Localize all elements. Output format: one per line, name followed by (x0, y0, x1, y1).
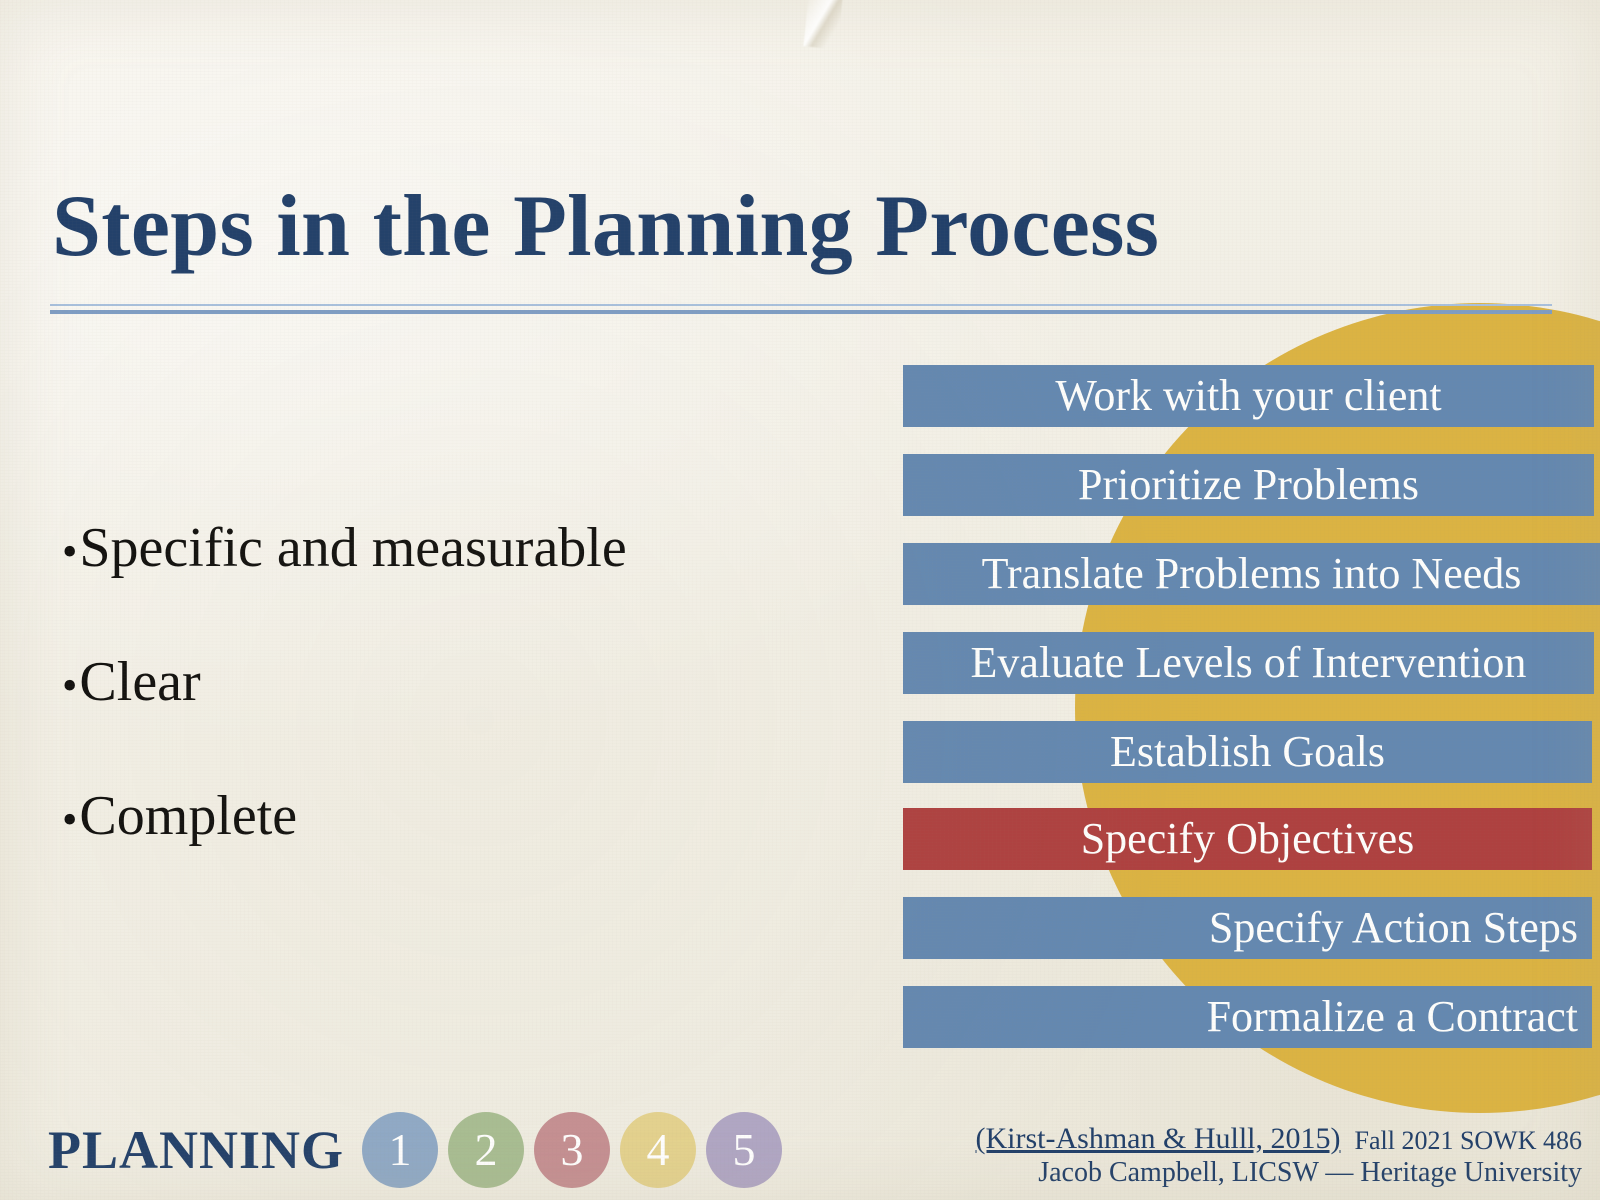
step-bar-label: Work with your client (1055, 374, 1441, 418)
step-bar-translate-problems-into-needs: Translate Problems into Needs (903, 543, 1600, 605)
course-label: Fall 2021 SOWK 486 (1355, 1125, 1583, 1156)
step-number-circles: 1 2 3 4 5 (362, 1112, 792, 1188)
step-bar-label: Establish Goals (1110, 730, 1385, 774)
planning-label: PLANNING (48, 1123, 344, 1177)
footer-citation-row: (Kirst-Ashman & Hulll, 2015) Fall 2021 S… (976, 1122, 1582, 1157)
step-circle-number: 5 (733, 1127, 756, 1173)
step-bar-label: Evaluate Levels of Intervention (971, 641, 1527, 685)
step-bar-specify-action-steps: Specify Action Steps (903, 897, 1592, 959)
step-circle-2[interactable]: 2 (448, 1112, 524, 1188)
step-circle-1[interactable]: 1 (362, 1112, 438, 1188)
step-bar-evaluate-levels-of-intervention: Evaluate Levels of Intervention (903, 632, 1594, 694)
step-circle-5[interactable]: 5 (706, 1112, 782, 1188)
step-bar-formalize-a-contract: Formalize a Contract (903, 986, 1592, 1048)
planning-steps-chart: Work with your client Prioritize Problem… (0, 0, 1600, 1200)
step-bar-prioritize-problems: Prioritize Problems (903, 454, 1594, 516)
citation-link[interactable]: (Kirst-Ashman & Hulll, 2015) (976, 1122, 1341, 1157)
author-label: Jacob Campbell, LICSW — Heritage Univers… (976, 1156, 1582, 1190)
step-bar-work-with-your-client: Work with your client (903, 365, 1594, 427)
step-bar-label: Prioritize Problems (1078, 463, 1419, 507)
step-bar-label: Formalize a Contract (1207, 995, 1578, 1039)
step-bar-label: Specify Objectives (1081, 817, 1415, 861)
footer-attribution: (Kirst-Ashman & Hulll, 2015) Fall 2021 S… (976, 1122, 1582, 1190)
step-bar-establish-goals: Establish Goals (903, 721, 1592, 783)
step-circle-number: 2 (475, 1127, 498, 1173)
step-circle-4[interactable]: 4 (620, 1112, 696, 1188)
step-circle-3[interactable]: 3 (534, 1112, 610, 1188)
step-circle-number: 4 (647, 1127, 670, 1173)
slide-canvas: Steps in the Planning Process • Specific… (0, 0, 1600, 1200)
step-circle-number: 3 (561, 1127, 584, 1173)
step-bar-label: Specify Action Steps (1209, 906, 1578, 950)
planning-footer-block: PLANNING 1 2 3 4 5 (48, 1112, 792, 1188)
step-circle-number: 1 (389, 1127, 412, 1173)
step-bar-specify-objectives: Specify Objectives (903, 808, 1592, 870)
step-bar-label: Translate Problems into Needs (982, 552, 1522, 596)
